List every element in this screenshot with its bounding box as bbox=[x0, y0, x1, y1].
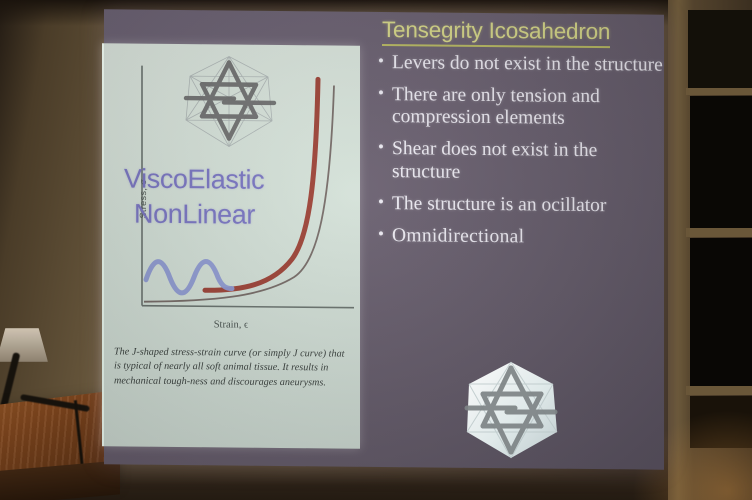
list-item: There are only tension and compression e… bbox=[376, 83, 664, 131]
screenshot-root: Stress, σ Strain, ϵ ViscoElastic NonLine… bbox=[0, 0, 752, 500]
figure-headline-line1: ViscoElastic bbox=[124, 164, 264, 195]
figure-headline: ViscoElastic NonLinear bbox=[124, 162, 360, 233]
tensegrity-icosahedron-model-icon bbox=[455, 358, 567, 462]
list-item: The structure is an ocillator bbox=[376, 193, 664, 219]
window-mullion bbox=[686, 386, 752, 395]
figure-caption: The J-shaped stress-strain curve (or sim… bbox=[114, 345, 350, 391]
figure-panel: Stress, σ Strain, ϵ ViscoElastic NonLine… bbox=[102, 43, 360, 448]
window-pane bbox=[688, 10, 752, 88]
bullet-list: Levers do not exist in the structure The… bbox=[376, 52, 664, 250]
slide-text-column: Tensegrity Icosahedron Levers do not exi… bbox=[376, 18, 664, 259]
projected-slide: Stress, σ Strain, ϵ ViscoElastic NonLine… bbox=[104, 9, 664, 469]
tensegrity-icosahedron-wireframe-icon bbox=[172, 50, 286, 155]
page-title: Tensegrity Icosahedron bbox=[382, 18, 610, 48]
list-item: Shear does not exist in the structure bbox=[376, 138, 664, 186]
window-mullion bbox=[686, 88, 752, 95]
list-item: Levers do not exist in the structure bbox=[376, 52, 664, 78]
window-pane bbox=[690, 238, 752, 386]
figure-headline-line2: NonLinear bbox=[134, 196, 360, 233]
list-item: Omnidirectional bbox=[376, 225, 664, 251]
window-pane bbox=[690, 96, 752, 228]
window-mullion bbox=[686, 228, 752, 237]
